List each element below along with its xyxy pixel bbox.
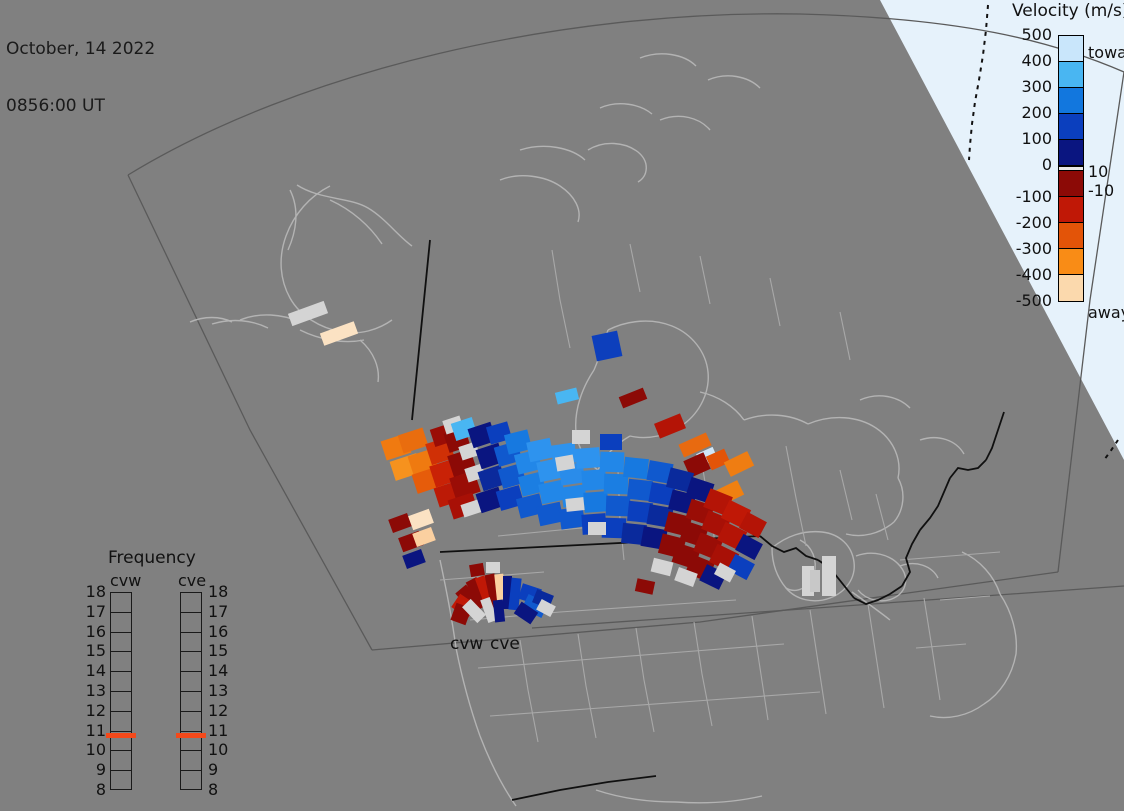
velocity-cell — [606, 496, 631, 517]
colorbar-band — [1059, 88, 1083, 114]
frequency-tick-right-16: 16 — [208, 624, 234, 640]
superdarn-velocity-map-window: October, 14 2022 0856:00 UT Velocity (m/… — [0, 0, 1124, 811]
frequency-column-label-cve: cve — [178, 571, 206, 590]
frequency-segment — [181, 633, 201, 653]
frequency-segment — [181, 593, 201, 613]
frequency-tick-left-14: 14 — [80, 663, 106, 679]
frequency-tick-right-13: 13 — [208, 683, 234, 699]
velocity-cell — [575, 447, 600, 469]
velocity-cell — [810, 570, 820, 592]
colorbar-tick-100: 100 — [992, 131, 1052, 147]
colorbar-inner-tick-low: -10 — [1088, 183, 1114, 199]
frequency-legend-panel: Frequency cvw cve 18171615141312111098 1… — [84, 548, 246, 800]
colorbar-band — [1059, 197, 1083, 223]
velocity-cell — [627, 479, 653, 501]
colorbar-tick-200: 200 — [992, 105, 1052, 121]
velocity-cell — [288, 301, 328, 326]
velocity-cell — [526, 438, 554, 463]
station-label-cvw: cvw — [450, 634, 483, 654]
frequency-tick-right-9: 9 — [208, 762, 234, 778]
frequency-tick-left-10: 10 — [80, 742, 106, 758]
colorbar-band — [1059, 114, 1083, 140]
velocity-cell — [402, 549, 426, 569]
colorbar-title: Velocity (m/s) — [1012, 1, 1124, 21]
frequency-title: Frequency — [108, 548, 196, 568]
velocity-cell — [555, 388, 579, 405]
velocity-cell — [583, 491, 608, 513]
frequency-tick-left-8: 8 — [80, 782, 106, 798]
frequency-tick-right-17: 17 — [208, 604, 234, 620]
velocity-cell — [592, 331, 623, 362]
colorbar-label-toward: toward — [1088, 45, 1124, 61]
frequency-tick-right-15: 15 — [208, 643, 234, 659]
frequency-segment — [111, 652, 131, 672]
frequency-column-label-cvw: cvw — [110, 571, 141, 590]
colorbar-tick-neg300: -300 — [992, 241, 1052, 257]
frequency-tick-left-9: 9 — [80, 762, 106, 778]
frequency-segment — [181, 692, 201, 712]
frequency-segment — [111, 712, 131, 732]
timestamp-label: October, 14 2022 0856:00 UT — [6, 2, 155, 154]
frequency-segment — [181, 672, 201, 692]
colorbar-tick-neg400: -400 — [992, 267, 1052, 283]
velocity-cell — [635, 578, 655, 594]
frequency-marker-cve — [176, 733, 206, 738]
frequency-tick-left-16: 16 — [80, 624, 106, 640]
colorbar-tick-neg100: -100 — [992, 189, 1052, 205]
velocity-cell — [388, 513, 412, 533]
frequency-segment — [111, 593, 131, 613]
frequency-segment — [111, 633, 131, 653]
colorbar-band — [1059, 249, 1083, 275]
frequency-tick-left-15: 15 — [80, 643, 106, 659]
colorbar-band — [1059, 275, 1083, 301]
frequency-bar-cvw — [110, 592, 132, 790]
velocity-cell — [822, 556, 836, 596]
colorbar-band — [1059, 36, 1083, 62]
frequency-tick-right-11: 11 — [208, 723, 234, 739]
station-label-cve: cve — [490, 634, 520, 654]
frequency-tick-right-14: 14 — [208, 663, 234, 679]
velocity-cell — [600, 434, 622, 450]
colorbar-inner-tick-high: 10 — [1088, 164, 1108, 180]
frequency-bar-cve — [180, 592, 202, 790]
velocity-cell — [486, 562, 500, 573]
frequency-segment — [111, 771, 131, 791]
colorbar-band — [1059, 223, 1083, 249]
frequency-tick-left-18: 18 — [80, 584, 106, 600]
velocity-cell — [320, 321, 358, 346]
velocity-cell — [651, 558, 674, 576]
frequency-segment — [181, 652, 201, 672]
frequency-segment — [111, 672, 131, 692]
velocity-cell — [572, 430, 590, 444]
frequency-marker-cvw — [106, 733, 136, 738]
colorbar-band — [1059, 171, 1083, 197]
colorbar-tick-neg200: -200 — [992, 215, 1052, 231]
velocity-cell — [588, 522, 606, 535]
colorbar-band — [1059, 140, 1083, 166]
colorbar-label-away: away — [1088, 305, 1124, 321]
velocity-cell — [654, 413, 686, 438]
frequency-segment — [111, 613, 131, 633]
frequency-tick-right-18: 18 — [208, 584, 234, 600]
frequency-segment — [111, 751, 131, 771]
velocity-cell — [724, 451, 754, 477]
frequency-segment — [181, 613, 201, 633]
velocity-cell — [408, 509, 434, 531]
frequency-tick-left-17: 17 — [80, 604, 106, 620]
velocity-cell — [600, 452, 625, 473]
velocity-cell — [619, 388, 648, 409]
colorbar-tick-neg500: -500 — [992, 293, 1052, 309]
colorbar-band — [1059, 62, 1083, 88]
timestamp-time: 0856:00 UT — [6, 97, 155, 116]
colorbar-tick-400: 400 — [992, 53, 1052, 69]
frequency-tick-left-12: 12 — [80, 703, 106, 719]
frequency-tick-right-12: 12 — [208, 703, 234, 719]
frequency-tick-right-8: 8 — [208, 782, 234, 798]
colorbar-tick-500: 500 — [992, 27, 1052, 43]
frequency-tick-right-10: 10 — [208, 742, 234, 758]
velocity-cell — [623, 457, 649, 479]
frequency-tick-left-11: 11 — [80, 723, 106, 739]
velocity-cell — [581, 469, 606, 491]
frequency-segment — [181, 751, 201, 771]
frequency-segment — [111, 692, 131, 712]
colorbar-gradient-bar — [1058, 35, 1084, 302]
frequency-tick-left-13: 13 — [80, 683, 106, 699]
velocity-cell — [469, 563, 485, 577]
frequency-segment — [181, 771, 201, 791]
velocity-cell — [565, 497, 584, 512]
timestamp-date: October, 14 2022 — [6, 40, 155, 59]
frequency-segment — [181, 712, 201, 732]
colorbar-tick-0: 0 — [992, 157, 1052, 173]
colorbar-tick-300: 300 — [992, 79, 1052, 95]
velocity-colorbar-panel: Velocity (m/s) 5004003002001000-100-200-… — [1000, 0, 1124, 340]
